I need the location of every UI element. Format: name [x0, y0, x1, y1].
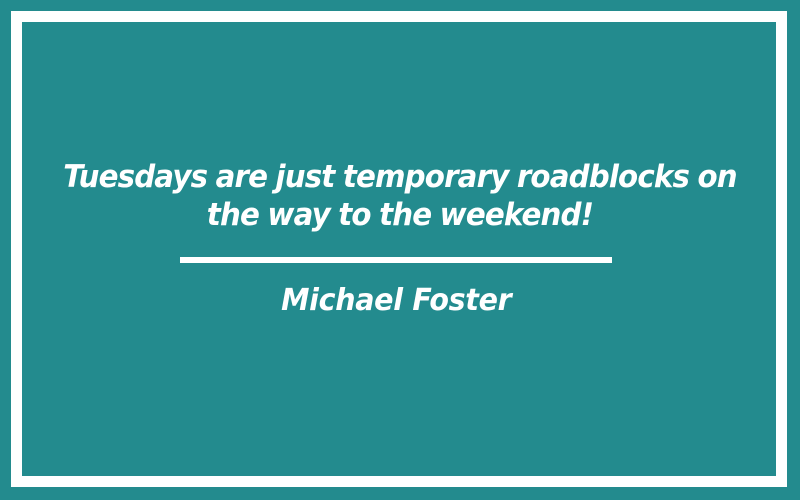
- quote-author: Michael Foster: [281, 285, 511, 317]
- quote-card: Tuesdays are just temporary roadblocks o…: [0, 0, 800, 500]
- quote-card-content: Tuesdays are just temporary roadblocks o…: [0, 0, 800, 500]
- quote-text: Tuesdays are just temporary roadblocks o…: [55, 158, 745, 234]
- divider-rule: [180, 257, 612, 263]
